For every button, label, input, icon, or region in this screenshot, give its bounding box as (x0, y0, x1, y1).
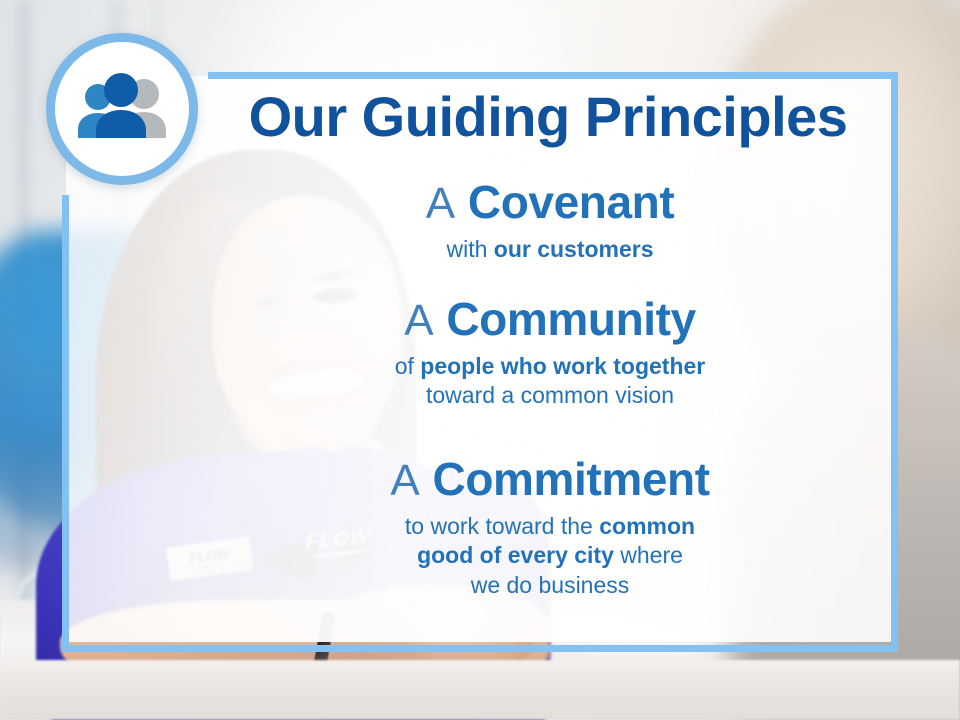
principle-article: A (426, 179, 455, 228)
principle-noun: Covenant (468, 176, 674, 228)
principle-subtext-line: we do business (230, 571, 870, 600)
page-title: Our Guiding Principles (208, 88, 888, 147)
principle-article: A (404, 296, 433, 345)
subtext-run-bold: good of every city (417, 542, 614, 568)
principle-heading: A Covenant (230, 178, 870, 228)
principle-block-commitment: A Commitment to work toward the common g… (230, 455, 870, 600)
principle-subtext-line: with our customers (230, 235, 870, 264)
frame-border-left (62, 195, 69, 652)
subtext-run: toward a common vision (426, 382, 674, 408)
frame-border-top (208, 72, 898, 79)
poster-canvas: FLOW AUTOMOTIVE FLOW Our Guidi (0, 0, 960, 720)
principle-subtext-line: to work toward the common (230, 512, 870, 541)
subtext-run: where (614, 542, 683, 568)
principle-block-covenant: A Covenant with our customers (230, 178, 870, 264)
frame-border-right (891, 72, 898, 652)
subtext-run-bold: people who work together (420, 353, 705, 379)
frame-border-bottom (62, 645, 898, 652)
subtext-run: with (446, 236, 493, 262)
subtext-run-bold: our customers (494, 236, 654, 262)
subtext-run: to work toward the (405, 513, 599, 539)
photo-table-surface (0, 660, 960, 720)
principle-subtext-line: good of every city where (230, 541, 870, 570)
principle-article: A (390, 456, 419, 505)
principle-heading: A Commitment (230, 455, 870, 505)
subtext-run-bold: common (599, 513, 695, 539)
subtext-run: we do business (471, 572, 630, 598)
principle-subtext-line: of people who work together (230, 352, 870, 381)
subtext-run: of (395, 353, 421, 379)
principle-subtext-line: toward a common vision (230, 381, 870, 410)
principle-noun: Community (446, 293, 695, 345)
principle-heading: A Community (230, 295, 870, 345)
principle-block-community: A Community of people who work together … (230, 295, 870, 411)
people-group-icon (46, 33, 198, 185)
principle-noun: Commitment (433, 453, 710, 505)
